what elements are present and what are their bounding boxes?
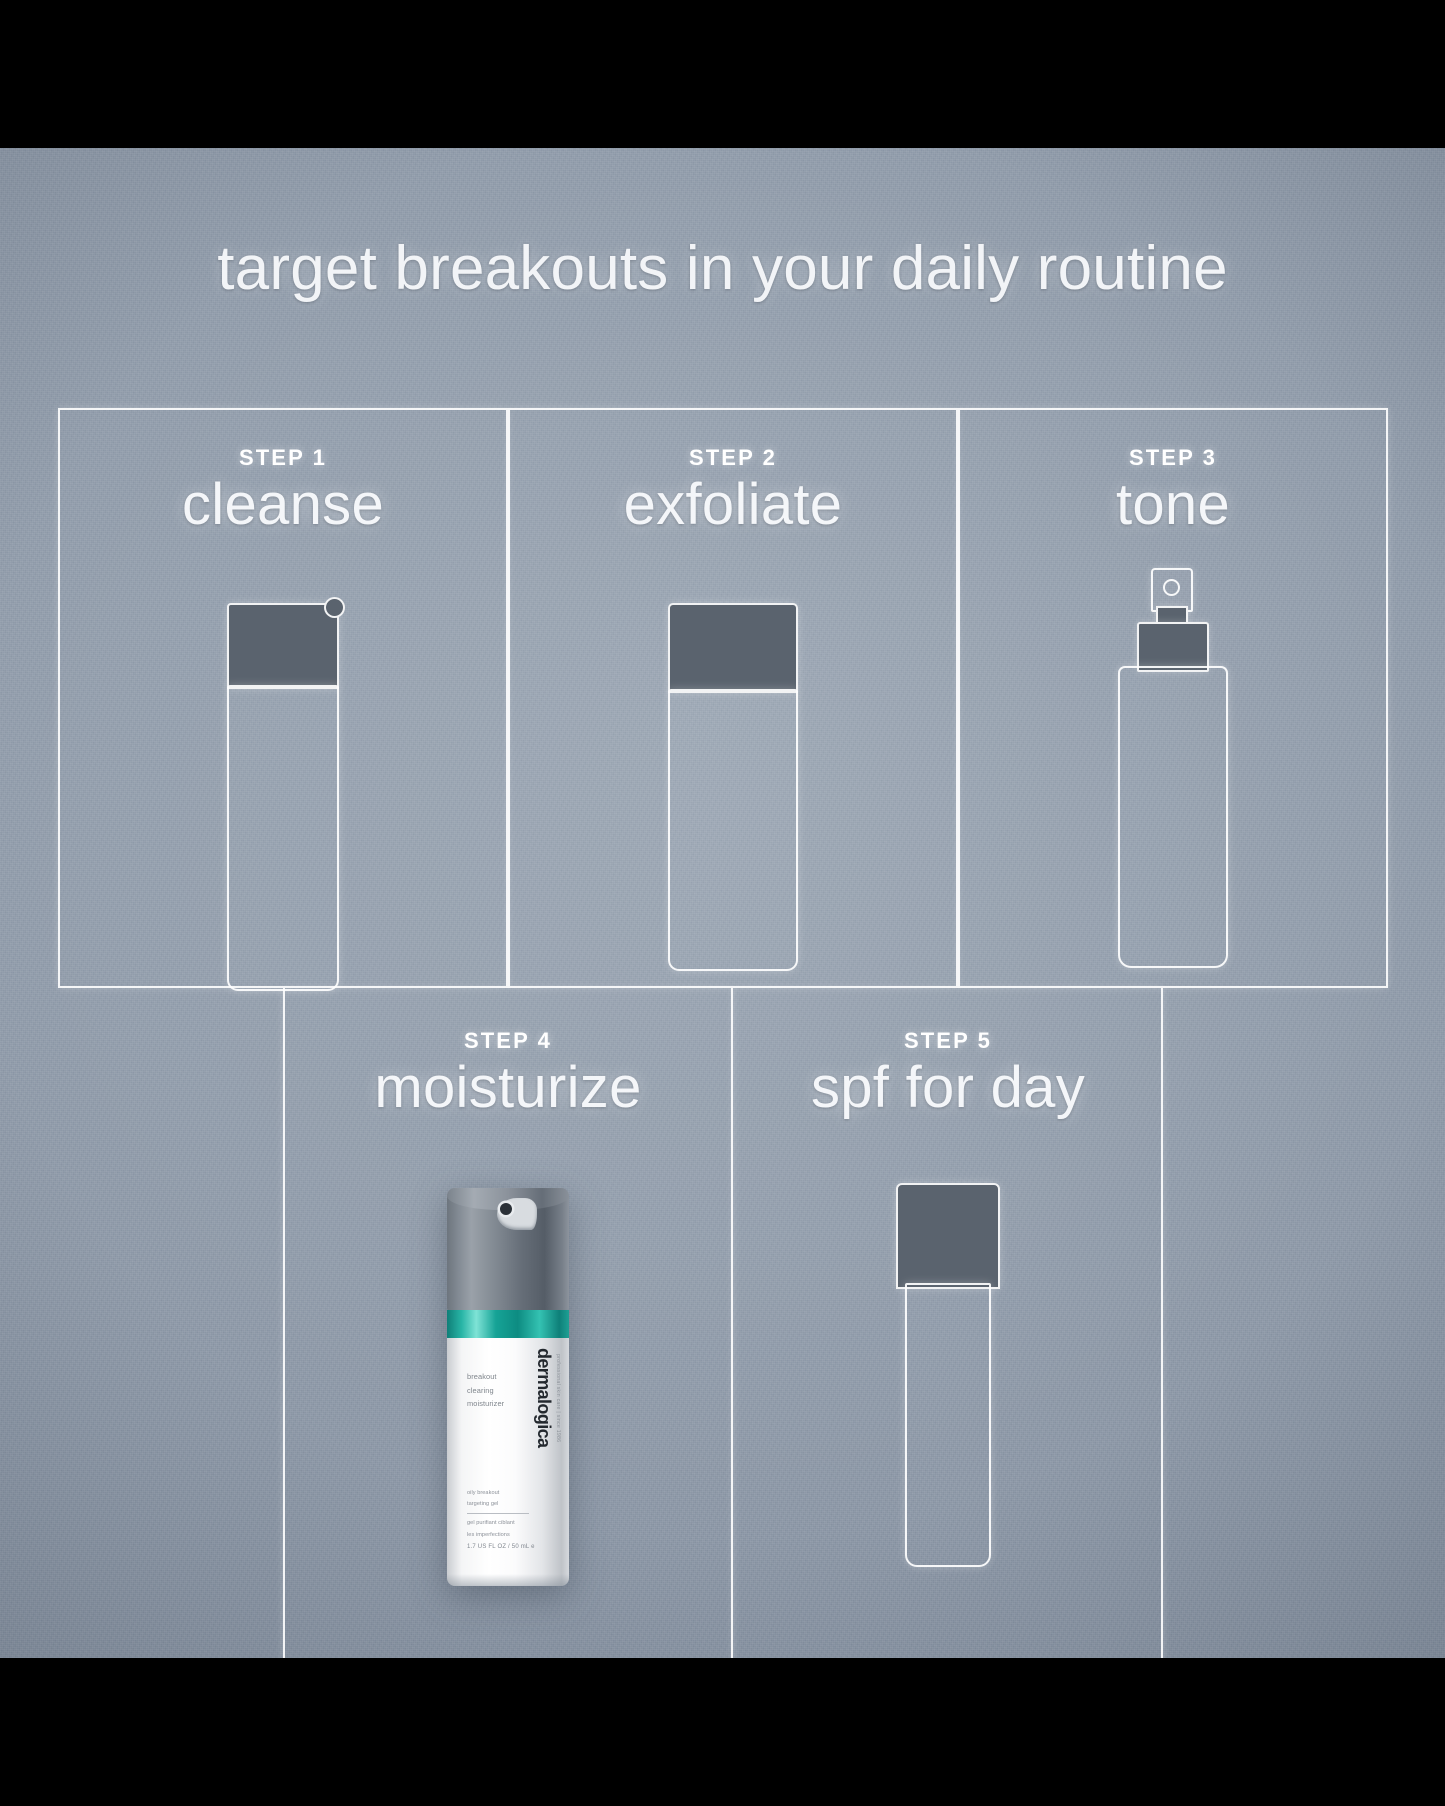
step-name-cleanse: cleanse <box>58 471 508 538</box>
pump-nozzle-icon <box>497 1198 537 1230</box>
toner-spray-bottle-icon <box>1118 568 1228 968</box>
bottle-cap <box>896 1183 1000 1289</box>
page-title: target breakouts in your daily routine <box>0 233 1445 304</box>
step-card-moisturize[interactable]: STEP 4 moisturize breakout clearing mois… <box>283 988 733 1658</box>
step-name-tone: tone <box>958 471 1388 538</box>
bottle-body <box>905 1283 991 1567</box>
spray-shoulder <box>1137 622 1209 672</box>
fine-print-line-3: gel purifiant ciblant <box>467 1518 541 1529</box>
letterbox-frame: target breakouts in your daily routine S… <box>0 0 1445 1806</box>
brand-wordmark: dermalogica <box>535 1348 553 1447</box>
bottle-body <box>668 689 798 971</box>
brand-tagline: professional skin care | since 1986 <box>555 1354 560 1442</box>
product-name-line-1: breakout <box>467 1370 529 1384</box>
poster-canvas: target breakouts in your daily routine S… <box>0 148 1445 1658</box>
product-art-cleanse <box>58 603 508 991</box>
step-name-moisturize: moisturize <box>283 1054 733 1121</box>
product-size: 1.7 US FL OZ / 50 mL e <box>467 1544 535 1550</box>
product-art-moisturize: breakout clearing moisturizer dermalogic… <box>283 1188 733 1588</box>
step-card-spf[interactable]: STEP 5 spf for day <box>733 988 1163 1658</box>
spray-hole-icon <box>1163 579 1180 596</box>
bottle-body <box>227 685 339 991</box>
bottle-body <box>1118 666 1228 968</box>
exfoliant-bottle-icon <box>668 603 798 971</box>
product-name-line-3: moisturizer <box>467 1397 529 1411</box>
product-name-label: breakout clearing moisturizer <box>467 1370 529 1411</box>
step-label-3: STEP 3 <box>958 445 1388 471</box>
cleanser-bottle-icon <box>227 603 339 991</box>
bottle-cap <box>227 603 339 689</box>
bottle-body-white: breakout clearing moisturizer dermalogic… <box>447 1338 569 1586</box>
label-divider <box>467 1513 529 1514</box>
product-name-line-2: clearing <box>467 1384 529 1398</box>
spf-bottle-icon <box>896 1183 1000 1567</box>
fine-print-line-2: targeting gel <box>467 1499 541 1510</box>
product-art-spf <box>733 1183 1163 1567</box>
step-label-2: STEP 2 <box>508 445 958 471</box>
product-art-tone <box>958 568 1388 968</box>
step-name-exfoliate: exfoliate <box>508 471 958 538</box>
step-card-tone[interactable]: STEP 3 tone <box>958 408 1388 988</box>
fine-print-line-4: les imperfections <box>467 1530 541 1541</box>
step-card-cleanse[interactable]: STEP 1 cleanse <box>58 408 508 988</box>
product-art-exfoliate <box>508 603 958 971</box>
step-label-1: STEP 1 <box>58 445 508 471</box>
step-label-5: STEP 5 <box>733 1028 1163 1054</box>
bottle-cap <box>668 603 798 693</box>
step-name-spf: spf for day <box>733 1054 1163 1121</box>
product-fine-print: oily breakout targeting gel gel purifian… <box>467 1488 541 1541</box>
moisturizer-product-photo: breakout clearing moisturizer dermalogic… <box>441 1188 575 1588</box>
teal-accent-band <box>447 1310 569 1338</box>
fine-print-line-1: oily breakout <box>467 1488 541 1499</box>
flip-top-notch-icon <box>324 597 345 618</box>
step-label-4: STEP 4 <box>283 1028 733 1054</box>
step-card-exfoliate[interactable]: STEP 2 exfoliate <box>508 408 958 988</box>
